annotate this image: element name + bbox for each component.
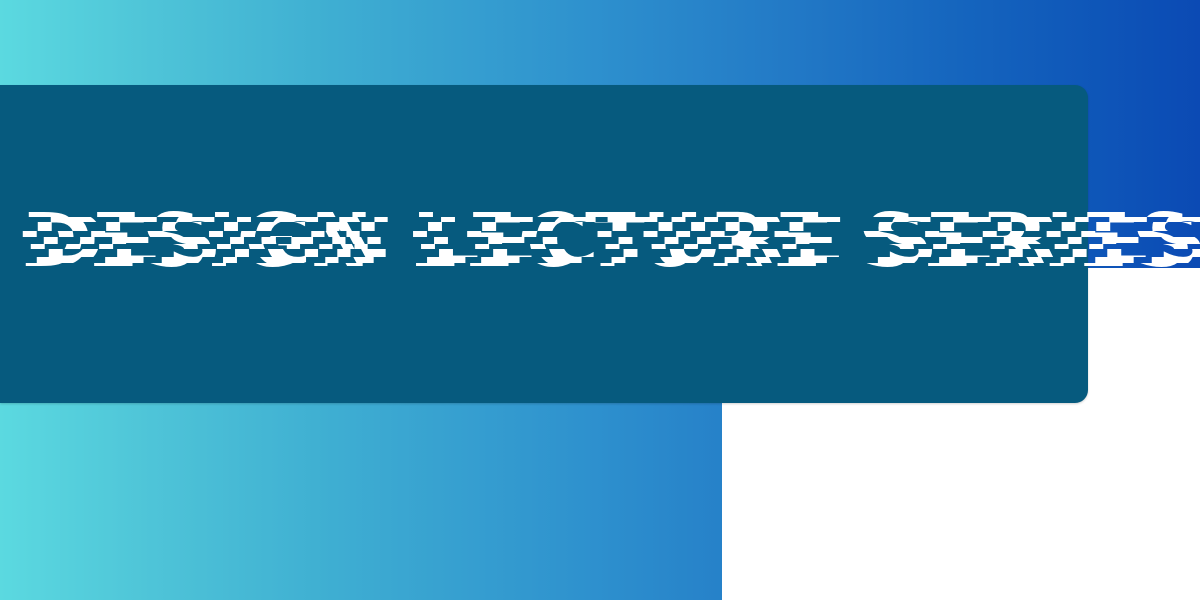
event-banner: DESIGN LECTURE SERIES DESIGN LECTURE SER…: [0, 0, 1200, 600]
headline-container: DESIGN LECTURE SERIES DESIGN LECTURE SER…: [28, 196, 1028, 286]
white-field-bottom: [722, 403, 1200, 600]
glitch-headline-svg: DESIGN LECTURE SERIES DESIGN LECTURE SER…: [28, 196, 1028, 286]
glitch-headline: DESIGN LECTURE SERIES DESIGN LECTURE SER…: [28, 196, 1028, 286]
